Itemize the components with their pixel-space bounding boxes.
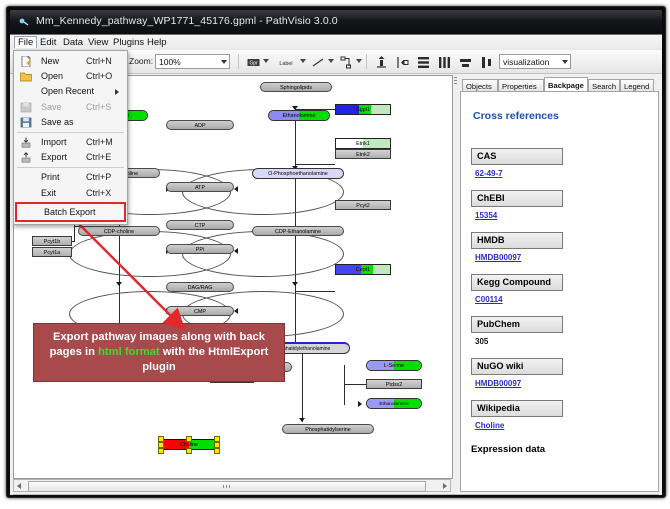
client-area: File Edit Data View Plugins Help Zoom: 1… — [10, 34, 662, 495]
callout-highlight: html format — [98, 346, 160, 358]
menu-item-save-as[interactable]: Save as — [14, 115, 127, 130]
scroll-right-icon[interactable] — [443, 483, 447, 489]
node-sphingolipids[interactable]: Sphingolipids — [260, 82, 332, 92]
window-title: Mm_Kennedy_pathway_WP1771_45176.gpml - P… — [36, 15, 338, 27]
connector-icon[interactable] — [337, 53, 356, 72]
edge-line — [302, 354, 303, 422]
node-pcyt1a[interactable]: Pcyt1a — [32, 247, 72, 257]
node-sgpl1[interactable]: Sgpl1 — [335, 104, 391, 115]
node-cdp-ethanolamine[interactable]: CDP-Ethanolamine — [252, 226, 344, 236]
menu-data[interactable]: Data — [59, 36, 87, 49]
menu-item-open-recent[interactable]: Open Recent — [14, 84, 127, 99]
menu-bar: File Edit Data View Plugins Help — [10, 35, 662, 50]
geneproduct-dropdown-icon[interactable] — [263, 59, 269, 63]
pathvisio-icon — [18, 16, 30, 28]
svg-text:Label: Label — [279, 61, 292, 67]
menu-item-exit[interactable]: Exit Ctrl+X — [14, 186, 127, 201]
distribute-horizontal-icon[interactable] — [435, 53, 454, 72]
open-folder-icon — [20, 71, 32, 82]
db-value-nugo[interactable]: HMDB00097 — [475, 379, 521, 388]
label-dropdown-icon[interactable] — [300, 59, 306, 63]
save-disk-icon — [20, 102, 32, 113]
arrow-icon — [299, 418, 305, 422]
new-file-icon — [20, 56, 32, 67]
line-dropdown-icon[interactable] — [328, 59, 334, 63]
toolbar-separator — [366, 54, 367, 69]
edge-line — [295, 164, 335, 165]
selection-group[interactable]: Choline — [158, 436, 220, 452]
db-value-chebi[interactable]: 15354 — [475, 211, 497, 220]
db-value-kegg[interactable]: C00114 — [475, 295, 503, 304]
align-left-icon[interactable] — [393, 53, 412, 72]
application-window: Mm_Kennedy_pathway_WP1771_45176.gpml - P… — [6, 6, 666, 498]
menu-separator — [17, 132, 124, 133]
arrow-icon — [234, 308, 238, 314]
export-icon — [20, 152, 32, 163]
db-value-cas[interactable]: 62-49-7 — [475, 169, 503, 178]
node-etnk1[interactable]: Etnk1 — [335, 138, 391, 149]
resize-handle[interactable] — [158, 448, 164, 454]
edge-line — [344, 384, 366, 385]
menu-separator — [17, 167, 124, 168]
node-pcyt1b[interactable]: Pcyt1b — [32, 236, 72, 246]
side-panel: Objects Properties Backpage Search Legen… — [460, 75, 659, 492]
edge-line — [295, 291, 335, 292]
db-label-pubchem: PubChem — [471, 316, 563, 333]
menu-item-import[interactable]: Import Ctrl+M — [14, 135, 127, 150]
scroll-left-icon[interactable] — [17, 483, 21, 489]
db-label-nugo: NuGO wiki — [471, 358, 563, 375]
zoom-value: 100% — [159, 57, 181, 67]
menu-item-new[interactable]: New Ctrl+N — [14, 54, 127, 69]
side-panel-tabs: Objects Properties Backpage Search Legen… — [460, 77, 659, 92]
menu-file[interactable]: File — [14, 36, 37, 48]
menu-item-save: Save Ctrl+S — [14, 100, 127, 115]
same-width-icon[interactable] — [456, 53, 475, 72]
node-phosphatidylserine[interactable]: Phosphatidylserine — [282, 424, 374, 434]
resize-handle[interactable] — [214, 448, 220, 454]
menu-item-open[interactable]: Open Ctrl+O — [14, 69, 127, 84]
label-icon[interactable]: Label — [272, 53, 300, 72]
title-bar: Mm_Kennedy_pathway_WP1771_45176.gpml - P… — [10, 10, 662, 34]
db-value-pubchem: 305 — [475, 337, 488, 346]
node-o-phosphoethanolamine[interactable]: O-Phosphoethanolamine — [252, 168, 344, 179]
arrow-icon — [234, 186, 238, 192]
backpage-content: Cross references CAS 62-49-7 ChEBI 15354… — [460, 91, 659, 492]
grip-icon — [454, 77, 457, 84]
menu-item-export[interactable]: Export Ctrl+E — [14, 150, 127, 165]
chevron-down-icon — [562, 60, 568, 64]
arrow-icon — [358, 401, 362, 407]
distribute-vertical-icon[interactable] — [414, 53, 433, 72]
node-atp[interactable]: ATP — [166, 182, 234, 192]
save-as-icon — [20, 117, 32, 128]
grip-icon — [223, 485, 232, 488]
db-label-wikipedia: Wikipedia — [471, 400, 563, 417]
db-value-hmdb[interactable]: HMDB00097 — [475, 253, 521, 262]
node-pcyt2[interactable]: Pcyt2 — [335, 200, 391, 210]
visualization-combo[interactable]: visualization — [499, 54, 571, 69]
submenu-arrow-icon — [115, 89, 119, 95]
canvas-hscrollbar[interactable] — [13, 479, 451, 492]
scroll-thumb[interactable] — [28, 481, 426, 492]
callout-part2: with the HtmlExport plugin — [142, 346, 268, 373]
node-ethanolamine-right[interactable]: Ethanolamine — [366, 398, 422, 409]
node-ethanolamine-top[interactable]: Ethanolamine — [268, 110, 330, 121]
resize-handle[interactable] — [186, 448, 192, 454]
node-etnk2[interactable]: Etnk2 — [335, 149, 391, 159]
zoom-combo[interactable]: 100% — [155, 54, 230, 69]
db-label-chebi: ChEBI — [471, 190, 563, 207]
arrow-icon — [234, 248, 238, 254]
db-label-cas: CAS — [471, 148, 563, 165]
expression-data-heading: Expression data — [471, 444, 545, 455]
menu-edit[interactable]: Edit — [36, 36, 60, 49]
db-label-hmdb: HMDB — [471, 232, 563, 249]
status-bar: | Gene database: ...m_Derby_20120602.bri… — [13, 494, 659, 495]
geneproduct-icon[interactable]: Gpr — [244, 53, 263, 72]
line-icon[interactable] — [309, 53, 328, 72]
import-icon — [20, 137, 32, 148]
connector-dropdown-icon[interactable] — [356, 59, 362, 63]
cross-references-heading: Cross references — [473, 110, 559, 122]
file-menu-popup[interactable]: New Ctrl+N Open Ctrl+O Open Recent Sa — [13, 50, 128, 225]
db-value-wikipedia[interactable]: Choline — [475, 421, 504, 430]
same-height-icon[interactable] — [477, 53, 496, 72]
arrow-icon — [292, 282, 298, 286]
visualization-value: visualization — [503, 57, 549, 67]
node-l-serine[interactable]: L-Serine — [366, 360, 422, 371]
db-label-kegg: Kegg Compound — [471, 274, 563, 291]
toolbar-separator — [238, 54, 239, 69]
node-cept1[interactable]: Cept1 — [335, 264, 391, 275]
edge-line — [344, 365, 345, 405]
panel-splitter[interactable] — [453, 75, 459, 492]
menu-item-batch-export[interactable]: Batch Export — [15, 202, 126, 222]
resize-handle[interactable] — [186, 436, 192, 442]
svg-text:Gpr: Gpr — [249, 61, 258, 67]
node-ptdss2[interactable]: Ptdss2 — [366, 379, 422, 389]
menu-item-print[interactable]: Print Ctrl+P — [14, 170, 127, 185]
menu-help[interactable]: Help — [143, 36, 171, 49]
node-adp[interactable]: ADP — [166, 120, 234, 130]
annotation-arrow-icon — [70, 215, 210, 340]
zoom-label: Zoom: — [129, 56, 153, 66]
align-top-icon[interactable] — [372, 53, 391, 72]
chevron-down-icon — [221, 60, 227, 64]
